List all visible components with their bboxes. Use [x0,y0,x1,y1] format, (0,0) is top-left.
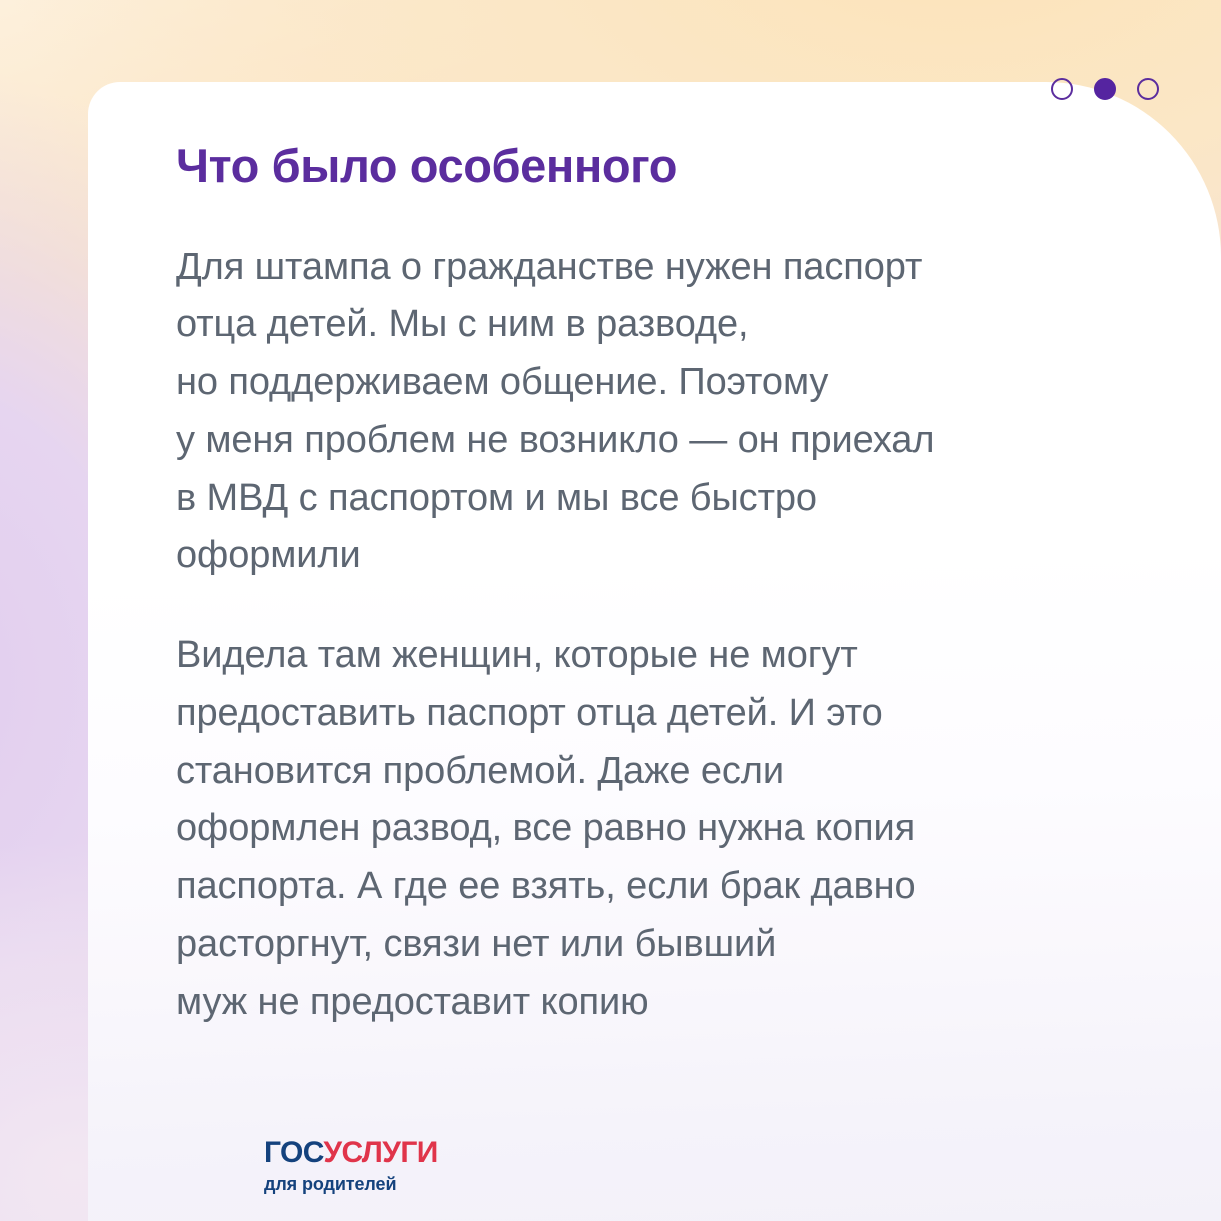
paragraph-2-line-4: оформлен развод, все равно нужна копия [176,800,1081,858]
slide-canvas: Что было особенного Для штампа о граждан… [0,0,1221,1221]
paragraph-1-line-5: в МВД с паспортом и мы все быстро [176,470,1081,528]
paragraph-1: Для штампа о гражданстве нужен паспорт о… [176,239,1081,586]
content-card: Что было особенного Для штампа о граждан… [88,82,1221,1221]
logo-wordmark-uslugi: УСЛУГИ [323,1136,437,1169]
pager-dot-2[interactable] [1094,78,1116,100]
pager-dots[interactable] [1051,78,1159,100]
logo-wordmark-gos: ГОС [264,1136,323,1169]
paragraph-2: Видела там женщин, которые не могут пред… [176,627,1081,1031]
paragraph-1-line-4: у меня проблем не возникло — он приехал [176,412,1081,470]
paragraph-2-line-2: предоставить паспорт отца детей. И это [176,685,1081,743]
paragraph-1-line-1: Для штампа о гражданстве нужен паспорт [176,239,1081,297]
gosuslugi-logo[interactable]: ГОСУСЛУГИ для родителей [264,1138,438,1193]
paragraph-2-line-5: паспорта. А где ее взять, если брак давн… [176,858,1081,916]
card-content: Что было особенного Для штампа о граждан… [176,140,1165,1031]
logo-subtitle: для родителей [264,1175,438,1193]
paragraph-2-line-7: муж не предоставит копию [176,974,1081,1032]
logo-wordmark: ГОСУСЛУГИ [264,1138,438,1168]
pager-dot-1[interactable] [1051,78,1073,100]
paragraph-1-line-2: отца детей. Мы с ним в разводе, [176,296,1081,354]
paragraph-1-line-3: но поддерживаем общение. Поэтому [176,354,1081,412]
paragraph-2-line-6: расторгнут, связи нет или бывший [176,916,1081,974]
paragraph-2-line-1: Видела там женщин, которые не могут [176,627,1081,685]
page-title: Что было особенного [176,140,1165,193]
paragraph-1-line-6: оформили [176,527,1081,585]
paragraph-2-line-3: становится проблемой. Даже если [176,743,1081,801]
pager-dot-3[interactable] [1137,78,1159,100]
